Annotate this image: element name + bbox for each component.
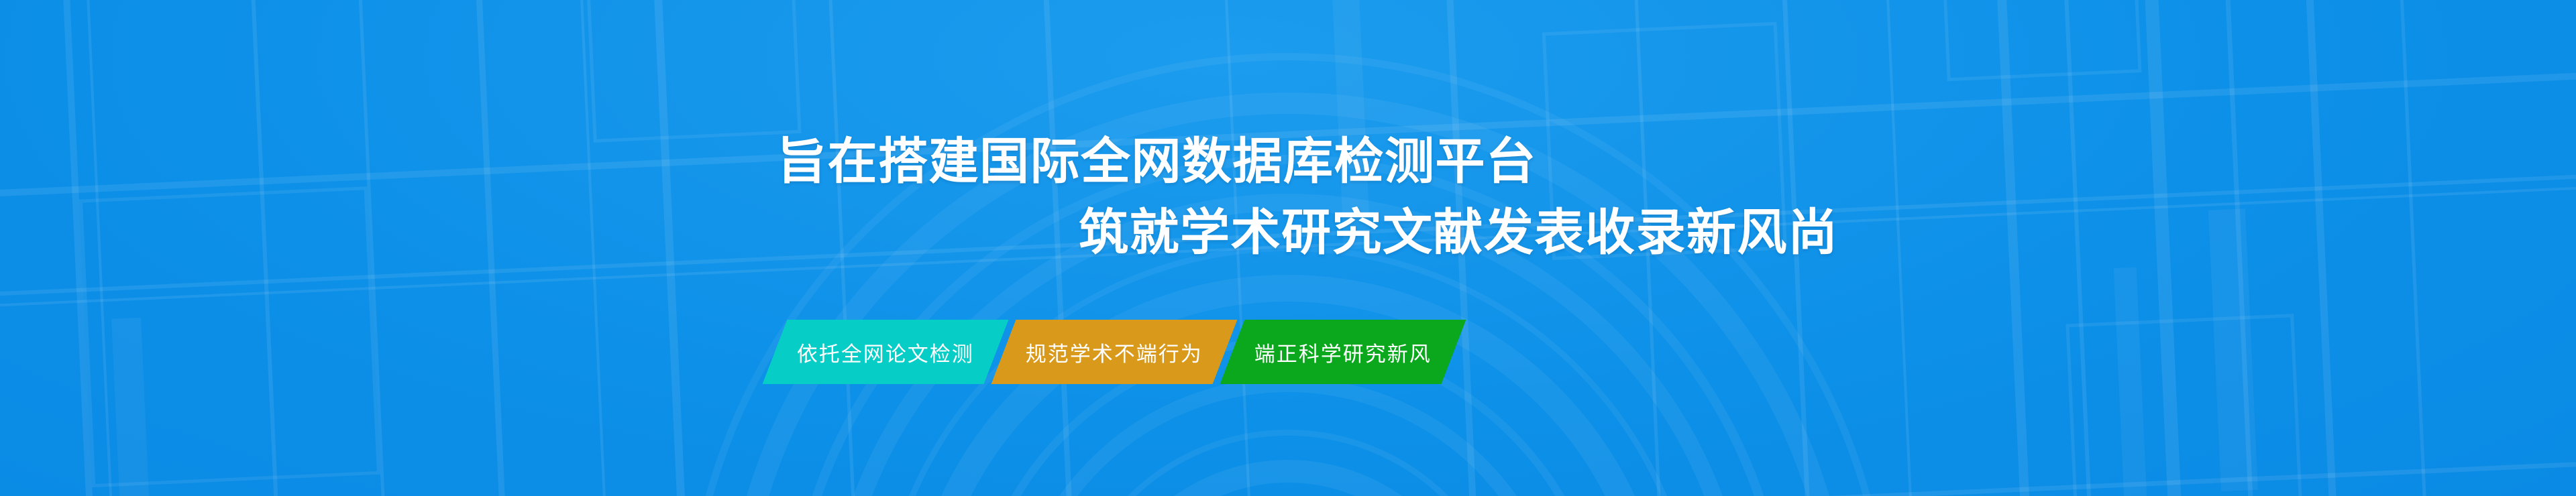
- headline-line-2: 筑就学术研究文献发表收录新风尚: [1079, 208, 1839, 257]
- feature-tag-label: 依托全网论文检测: [797, 337, 974, 367]
- feature-tag-strip: 依托全网论文检测 规范学术不端行为 端正科学研究新风: [775, 320, 1454, 384]
- feature-tag-research-integrity[interactable]: 端正科学研究新风: [1220, 320, 1466, 384]
- feature-tag-label: 端正科学研究新风: [1254, 337, 1432, 367]
- promo-banner: 旨在搭建国际全网数据库检测平台 筑就学术研究文献发表收录新风尚 依托全网论文检测…: [0, 0, 2576, 496]
- headline-line-1: 旨在搭建国际全网数据库检测平台: [777, 137, 1537, 186]
- headline-block: 旨在搭建国际全网数据库检测平台 筑就学术研究文献发表收录新风尚: [0, 0, 2576, 496]
- feature-tag-academic-misconduct[interactable]: 规范学术不端行为: [991, 320, 1238, 384]
- feature-tag-label: 规范学术不端行为: [1026, 337, 1203, 367]
- feature-tag-plagiarism-detection[interactable]: 依托全网论文检测: [763, 320, 1009, 384]
